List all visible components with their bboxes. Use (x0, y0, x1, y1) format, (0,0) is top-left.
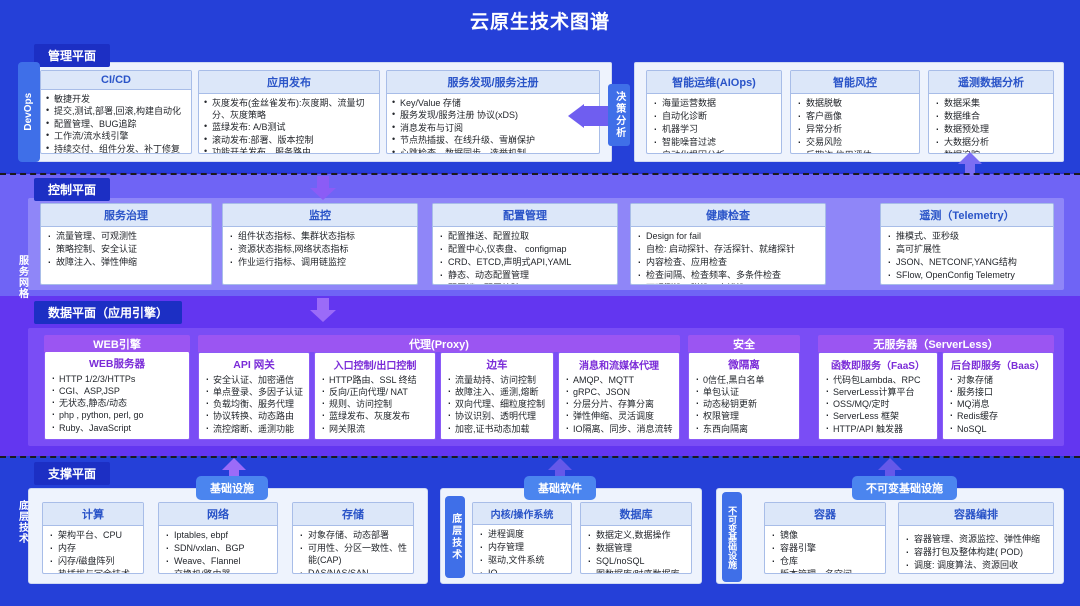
list-item: 自检: 启动探针、存活探针、就绪探针 (636, 244, 820, 256)
list-item: 内存管理 (478, 542, 566, 554)
card-title: 内核/操作系统 (473, 503, 571, 525)
card-title: 服务发现/服务注册 (387, 71, 599, 94)
list-item: NoSQL (949, 423, 1048, 435)
list-item: 仓库 (770, 556, 880, 568)
card-message-stream-proxy[interactable]: 消息和流媒体代理 AMQP、MQTT gRPC、JSON 分层分片、存算分离 弹… (558, 352, 680, 440)
card-sidecar[interactable]: 边车 流量劫持、访问控制 故障注入、遥测,熔断 双向代理、细粒度控制 协议识别、… (440, 352, 554, 440)
list-item: Iptables, ebpf (164, 530, 272, 542)
group-header-proxy: 代理(Proxy) (198, 335, 680, 352)
list-item: 协议识别、透明代理 (447, 410, 548, 422)
list-item: 配置中心,仪表盘、 configmap (438, 244, 612, 256)
list-item: 蓝绿发布、灰度发布 (321, 410, 430, 422)
page-title: 云原生技术图谱 (470, 7, 610, 34)
group-title: WEB引擎 (93, 336, 141, 352)
list-item: 组件状态指标、集群状态指标 (228, 231, 412, 243)
card-aiops[interactable]: 智能运维(AIOps) 海量运营数据 自动化诊断 机器学习 智能噪音过滤 自动化… (646, 70, 782, 154)
card-health-check[interactable]: 健康检查 Design for fail 自检: 启动探针、存活探针、就绪探针 … (630, 203, 826, 285)
list-item: IO (478, 568, 566, 574)
card-title: 微隔离 (689, 353, 799, 374)
list-item: 数据预处理 (934, 124, 1048, 136)
plane-tag-control: 控制平面 (34, 178, 110, 201)
list-item: 可观测性、弹性、容错性 (636, 283, 820, 286)
list-item: 闪存/磁盘阵列 (48, 556, 138, 568)
pill-base-software[interactable]: 基础软件 (524, 476, 596, 500)
list-item: Design for fail (636, 231, 820, 243)
list-item: 规则、访问控制 (321, 398, 430, 410)
list-item: 数据脱敏 (796, 98, 914, 110)
card-title: 存储 (293, 503, 413, 526)
list-item: 对象存储、动态部署 (298, 530, 408, 542)
side-tab-immutable-label: 不可变基础设施 (727, 506, 737, 569)
list-item: 单点登录、多因子认证 (205, 386, 304, 398)
list-item: MQ消息 (949, 398, 1048, 410)
plane-tag-management: 管理平面 (34, 44, 110, 67)
list-item: HTTP路由、SSL 终结 (321, 374, 430, 386)
list-item: CRD、ETCD,声明式API,YAML (438, 257, 612, 269)
card-api-gateway[interactable]: API 网关 安全认证、加密通信 单点登录、多因子认证 负载均衡、服务代理 协议… (198, 352, 310, 440)
list-item: 配置锁、配置校验 (438, 283, 612, 286)
card-compute[interactable]: 计算 架构平台、CPU 内存 闪存/磁盘阵列 热插拔与冗余技术 (42, 502, 144, 574)
card-title: 服务治理 (41, 204, 211, 227)
list-item: 资源状态指标,网络状态指标 (228, 244, 412, 256)
page-title-bar: 云原生技术图谱 (0, 0, 1080, 40)
card-title: WEB服务器 (45, 352, 189, 373)
list-item: 流控熔断、遥测功能 (205, 423, 304, 435)
side-tab-devops: DevOps (18, 62, 40, 162)
list-item: 高可扩展性 (886, 244, 1048, 256)
list-item: Redis缓存 (949, 410, 1048, 422)
list-item: 分层分片、存算分离 (565, 398, 674, 410)
list-item: 动态秘钥更新 (695, 398, 794, 410)
card-title: 数据库 (581, 503, 691, 526)
list-item: 协议转换、动态路由 (205, 410, 304, 422)
side-tab-service-mesh-label: 服务网格 (17, 255, 28, 299)
list-item: 故障注入、弹性伸缩 (46, 257, 206, 269)
list-item: 消息发布与订阅 (392, 123, 594, 135)
card-title: 后台即服务（Baas） (943, 353, 1053, 374)
card-title: 遥测（Telemetry） (881, 204, 1053, 227)
list-item: 海量运营数据 (652, 98, 776, 110)
list-item: Weave、Flannel (164, 556, 272, 568)
group-header-security: 安全 (688, 335, 800, 352)
list-item: DAS/NAS/SAN (298, 568, 408, 574)
list-item: 容器打包及整体构建( POD) (904, 547, 1048, 559)
list-item: 调度: 调度算法、资源回收 (904, 560, 1048, 572)
list-item: 东西向隔离 (695, 423, 794, 435)
card-title: API 网关 (199, 353, 309, 374)
card-web-server[interactable]: WEB服务器 HTTP 1/2/3/HTTPs CGI、ASP,JSP 无状态,… (44, 352, 190, 440)
side-tab-decision-label: 决策分析 (613, 91, 625, 139)
group-title: 安全 (733, 336, 755, 352)
list-item: 客户画像 (796, 111, 914, 123)
list-item: SFlow, OpenConfig Telemetry (886, 270, 1048, 282)
list-item: 策略控制、安全认证 (46, 244, 206, 256)
list-item: HTTP/API 触发器 (825, 423, 932, 435)
list-item: 大数据分析 (934, 137, 1048, 149)
list-item: SDN/vxlan、BGP (164, 543, 272, 555)
card-faas[interactable]: 函数即服务（FaaS） 代码包Lambda、RPC ServerLess计算平台… (818, 352, 938, 440)
card-network[interactable]: 网络 Iptables, ebpf SDN/vxlan、BGP Weave、Fl… (158, 502, 278, 574)
list-item: ServerLess计算平台 (825, 386, 932, 398)
list-item: Key/Value 存储 (392, 98, 594, 110)
card-title: 计算 (43, 503, 143, 526)
list-item: 安全认证、加密通信 (205, 374, 304, 386)
card-title: 配置管理 (433, 204, 617, 227)
list-item: 无状态,静态/动态 (51, 397, 184, 409)
list-item: 加密,证书动态加载 (447, 423, 548, 435)
side-tab-underlying-tech-2-label: 底层技术 (449, 513, 461, 561)
list-item: 双向代理、细粒度控制 (447, 398, 548, 410)
card-title: 消息和流媒体代理 (559, 353, 679, 374)
list-item: 配置推送、配置拉取 (438, 231, 612, 243)
list-item: 提交,测试,部署,回滚,构建自动化 (46, 106, 186, 118)
side-tab-underlying-tech-2: 底层技术 (445, 496, 465, 578)
plane-tag-data: 数据平面（应用引擎） (34, 301, 182, 324)
list-item: JSON、NETCONF,YANG结构 (886, 257, 1048, 269)
list-item: 自动化诊断 (652, 111, 776, 123)
side-tab-service-mesh: 服务网格 (14, 255, 30, 302)
list-item: 镜像 (770, 530, 880, 542)
list-item: php , python, perl, go (51, 409, 184, 421)
card-kernel-os[interactable]: 内核/操作系统 进程调度 内存管理 驱动,文件系统 IO (472, 502, 572, 574)
card-cicd[interactable]: CI/CD 敏捷开发 提交,测试,部署,回滚,构建自动化 配置管理、BUG追踪 … (40, 70, 192, 154)
list-item: 工作流/流水线引擎 (46, 131, 186, 143)
list-item: 灰度发布(金丝雀发布):灰度期、流量切分、灰度策略 (204, 98, 374, 122)
list-item: 网关限流 (321, 423, 430, 435)
list-item: gRPC、JSON (565, 386, 674, 398)
list-item: HTTP 1/2/3/HTTPs (51, 373, 184, 385)
list-item: 单包认证 (695, 386, 794, 398)
list-item: CGI、ASP,JSP (51, 385, 184, 397)
list-item: 0信任,黑白名单 (695, 374, 794, 386)
list-item: 数据采集 (934, 98, 1048, 110)
list-item: 内存 (48, 543, 138, 555)
list-item: 反向/正向代理/ NAT (321, 386, 430, 398)
group-title: 无服务器（ServerLess） (873, 336, 998, 352)
list-item: 驱动,文件系统 (478, 555, 566, 567)
card-title: 入口控制/出口控制 (315, 353, 435, 374)
card-title: 容器编排 (899, 503, 1053, 526)
card-title: 健康检查 (631, 204, 825, 227)
pill-infrastructure[interactable]: 基础设施 (196, 476, 268, 500)
card-container[interactable]: 容器 镜像 容器引擎 仓库 版本管理、名空间 (764, 502, 886, 574)
list-item: 热插拔与冗余技术 (48, 569, 138, 574)
list-item: 异常分析 (796, 124, 914, 136)
list-item: 反欺诈,信用评估 (796, 150, 914, 155)
list-item: 服务接口 (949, 386, 1048, 398)
list-item: 持续交付、组件分发、补丁修复 (46, 144, 186, 155)
list-item: 作业运行指标、调用链监控 (228, 257, 412, 269)
group-header-web-engine: WEB引擎 (44, 335, 190, 352)
card-ingress-egress[interactable]: 入口控制/出口控制 HTTP路由、SSL 终结 反向/正向代理/ NAT 规则、… (314, 352, 436, 440)
list-item: 检查间隔、检查频率、多条件检查 (636, 270, 820, 282)
group-title: 代理(Proxy) (409, 336, 469, 352)
list-item: 数据定义,数据操作 (586, 530, 686, 542)
list-item: 内容检查、应用检查 (636, 257, 820, 269)
list-item: OSS/MQ/定时 (825, 398, 932, 410)
card-title: 边车 (441, 353, 553, 374)
list-item: 版本管理、名空间 (770, 569, 880, 574)
list-item: 故障注入、遥测,熔断 (447, 386, 548, 398)
card-baas[interactable]: 后台即服务（Baas） 对象存储 服务接口 MQ消息 Redis缓存 NoSQL (942, 352, 1054, 440)
list-item: 进程调度 (478, 529, 566, 541)
list-item: AMQP、MQTT (565, 374, 674, 386)
list-item: 推模式、亚秒级 (886, 231, 1048, 243)
card-title: 监控 (223, 204, 417, 227)
list-item: 代码包Lambda、RPC (825, 374, 932, 386)
card-app-release[interactable]: 应用发布 灰度发布(金丝雀发布):灰度期、流量切分、灰度策略 蓝绿发布: A/B… (198, 70, 380, 154)
list-item: 图数据库/时序数据库 (586, 569, 686, 574)
side-tab-decision: 决策分析 (608, 84, 630, 146)
list-item: 数据维合 (934, 111, 1048, 123)
list-item: 数据管理 (586, 543, 686, 555)
list-item: 交换机/路由器 (164, 569, 272, 574)
list-item: 配置管理、BUG追踪 (46, 119, 186, 131)
card-service-governance[interactable]: 服务治理 流量管理、可观测性 策略控制、安全认证 故障注入、弹性伸缩 (40, 203, 212, 285)
list-item: 流量劫持、访问控制 (447, 374, 548, 386)
card-title: 遥测数据分析 (929, 71, 1053, 94)
list-item: 静态、动态配置管理 (438, 270, 612, 282)
card-title: 应用发布 (199, 71, 379, 94)
card-micro-segmentation[interactable]: 微隔离 0信任,黑白名单 单包认证 动态秘钥更新 权限管理 东西向隔离 (688, 352, 800, 440)
group-header-serverless: 无服务器（ServerLess） (818, 335, 1054, 352)
card-telemetry[interactable]: 遥测（Telemetry） 推模式、亚秒级 高可扩展性 JSON、NETCONF… (880, 203, 1054, 285)
card-config-management[interactable]: 配置管理 配置推送、配置拉取 配置中心,仪表盘、 configmap CRD、E… (432, 203, 618, 285)
list-item: Ruby、JavaScript (51, 422, 184, 434)
list-item: 负载均衡、服务代理 (205, 398, 304, 410)
list-item: 功能开关发布、服务路由 (204, 147, 374, 154)
card-risk-control[interactable]: 智能风控 数据脱敏 客户画像 异常分析 交易风险 反欺诈,信用评估 (790, 70, 920, 154)
card-title: 容器 (765, 503, 885, 526)
list-item: 流量管理、可观测性 (46, 231, 206, 243)
list-item: 数据追踪 (934, 150, 1048, 155)
list-item: 蓝绿发布: A/B测试 (204, 122, 374, 134)
card-telemetry-analysis[interactable]: 遥测数据分析 数据采集 数据维合 数据预处理 大数据分析 数据追踪 (928, 70, 1054, 154)
divider-management-control (0, 173, 1080, 175)
list-item: SQL/noSQL (586, 556, 686, 568)
pill-immutable-infra[interactable]: 不可变基础设施 (852, 476, 957, 500)
list-item: 滚动发布:部署、版本控制 (204, 135, 374, 147)
card-title: 函数即服务（FaaS） (819, 353, 937, 374)
side-tab-devops-label: DevOps (23, 93, 35, 131)
card-database[interactable]: 数据库 数据定义,数据操作 数据管理 SQL/noSQL 图数据库/时序数据库 (580, 502, 692, 574)
list-item: 交易风险 (796, 137, 914, 149)
card-title: 智能运维(AIOps) (647, 71, 781, 94)
divider-data-support (0, 456, 1080, 458)
list-item: 容器管理、资源监控、弹性伸缩 (904, 534, 1048, 546)
side-tab-underlying-tech-1-label: 底层技术 (15, 500, 30, 544)
card-container-orchestration[interactable]: 容器编排 容器管理、资源监控、弹性伸缩 容器打包及整体构建( POD) 调度: … (898, 502, 1054, 574)
list-item: 可用性、分区一致性、性能(CAP) (298, 543, 408, 567)
list-item: 对象存储 (949, 374, 1048, 386)
list-item: 权限管理 (695, 410, 794, 422)
list-item: 自动化根因分析 (652, 150, 776, 155)
card-title: 网络 (159, 503, 277, 526)
plane-tag-support: 支撑平面 (34, 462, 110, 485)
card-storage[interactable]: 存储 对象存储、动态部署 可用性、分区一致性、性能(CAP) DAS/NAS/S… (292, 502, 414, 574)
list-item: 机器学习 (652, 124, 776, 136)
side-tab-underlying-tech-1: 底层技术 (14, 500, 30, 547)
arrow-down-to-control (310, 176, 336, 200)
card-title: CI/CD (41, 71, 191, 90)
list-item: IO隔离、同步、消息流转 (565, 423, 674, 435)
list-item: 敏捷开发 (46, 94, 186, 106)
list-item: ServerLess 框架 (825, 410, 932, 422)
arrow-down-to-data (310, 298, 336, 322)
list-item: 服务发现/服务注册 协议(xDS) (392, 110, 594, 122)
side-tab-immutable: 不可变基础设施 (722, 492, 742, 582)
list-item: 节点热插拔、在线升级、雪崩保护 (392, 135, 594, 147)
list-item: 智能噪音过滤 (652, 137, 776, 149)
list-item: 容器引擎 (770, 543, 880, 555)
list-item: 弹性伸缩、灵活调度 (565, 410, 674, 422)
card-monitoring[interactable]: 监控 组件状态指标、集群状态指标 资源状态指标,网络状态指标 作业运行指标、调用… (222, 203, 418, 285)
list-item: 心跳检查、数据同步、选举机制 (392, 148, 594, 155)
card-title: 智能风控 (791, 71, 919, 94)
list-item: 架构平台、CPU (48, 530, 138, 542)
